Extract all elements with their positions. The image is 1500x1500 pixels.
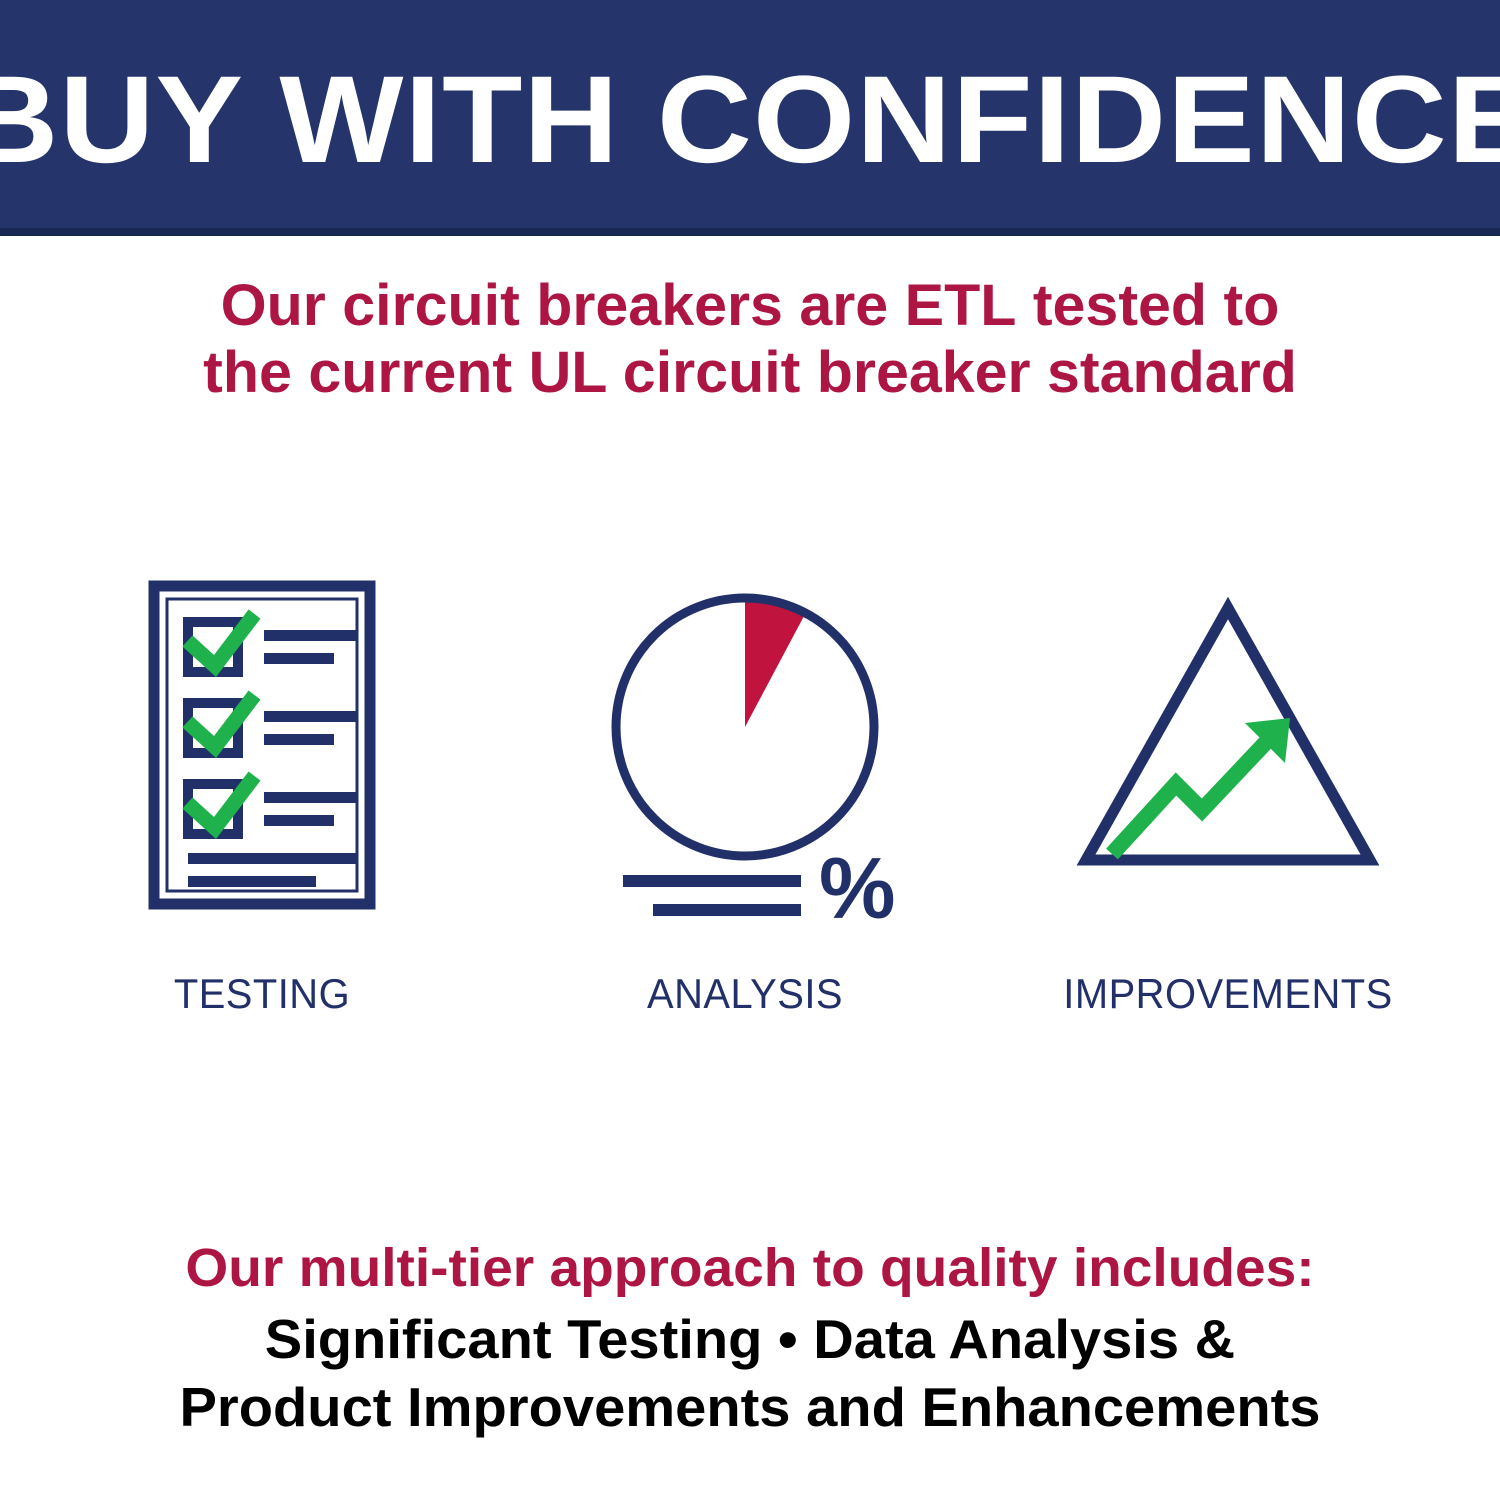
- checklist-icon: [42, 560, 482, 930]
- subtitle-block: Our circuit breakers are ETL tested to t…: [0, 272, 1500, 407]
- subtitle-line-2-text-a: the current: [203, 340, 528, 405]
- header-banner: BUY WITH CONFIDENCE: [0, 0, 1500, 236]
- subtitle-emphasis-etl: ETL: [905, 273, 1017, 338]
- footer-body-line-2: Product Improvements and Enhancements: [0, 1374, 1500, 1441]
- subtitle-line-1-text-c: tested to: [1016, 273, 1279, 338]
- feature-testing: TESTING: [42, 560, 482, 1040]
- subtitle-emphasis-ul-standard: UL circuit breaker standard: [529, 340, 1297, 405]
- triangle-growth-arrow-icon: [1008, 560, 1448, 930]
- pie-chart-percent-icon: %: [525, 560, 965, 930]
- feature-analysis: % ANALYSIS: [525, 560, 965, 1040]
- percent-symbol: %: [819, 841, 895, 930]
- feature-label-testing: TESTING: [53, 970, 471, 1018]
- feature-improvements: IMPROVEMENTS: [1008, 560, 1448, 1040]
- footer-body-line-1: Significant Testing • Data Analysis &: [0, 1306, 1500, 1373]
- subtitle-line-1-text-a: Our circuit breakers are: [221, 273, 905, 338]
- footer-block: Our multi-tier approach to quality inclu…: [0, 1238, 1500, 1441]
- feature-icon-row: TESTING % ANALYSIS IMPROVEMENTS: [0, 560, 1500, 1040]
- feature-label-analysis: ANALYSIS: [536, 970, 954, 1018]
- footer-body: Significant Testing • Data Analysis & Pr…: [0, 1306, 1500, 1440]
- subtitle-line-1: Our circuit breakers are ETL tested to: [0, 272, 1500, 339]
- banner-underline: [0, 228, 1500, 236]
- subtitle-line-2: the current UL circuit breaker standard: [0, 339, 1500, 406]
- feature-label-improvements: IMPROVEMENTS: [1019, 970, 1437, 1018]
- footer-lead-text: Our multi-tier approach to quality inclu…: [0, 1238, 1500, 1298]
- page-title: BUY WITH CONFIDENCE: [0, 58, 1500, 182]
